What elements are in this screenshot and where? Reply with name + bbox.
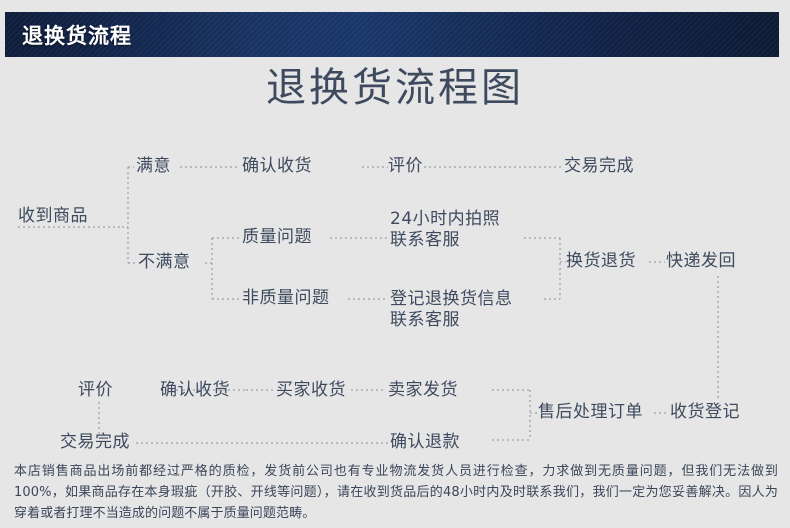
flow-node-deal-done-top: 交易完成 — [564, 156, 634, 177]
flow-node-confirm-refund: 确认退款 — [390, 432, 460, 453]
flow-node-review-top: 评价 — [388, 156, 423, 177]
flow-node-quality-issue: 质量问题 — [242, 227, 312, 248]
flow-node-express-send-back: 快递发回 — [666, 251, 736, 272]
footer-note: 本店销售商品出场前都经过严格的质检，发货前公司也有专业物流发货人员进行检查，力求… — [14, 461, 778, 524]
flow-node-register-info: 登记退换货信息 联系客服 — [390, 289, 513, 331]
flow-node-non-quality-issue: 非质量问题 — [242, 288, 330, 309]
flow-node-exchange-return: 换货退货 — [566, 251, 636, 272]
flow-node-unsatisfied: 不满意 — [138, 252, 191, 273]
flow-node-deal-done-bottom: 交易完成 — [60, 432, 130, 453]
flow-node-buyer-receive: 买家收货 — [276, 380, 346, 401]
flow-node-confirm-receipt-bottom: 确认收货 — [160, 380, 230, 401]
flow-node-seller-ship: 卖家发货 — [388, 380, 458, 401]
flow-node-review-bottom: 评价 — [78, 380, 113, 401]
flow-node-confirm-receipt-top: 确认收货 — [242, 156, 312, 177]
flow-node-receipt-register: 收货登记 — [670, 402, 740, 423]
flow-node-received-goods: 收到商品 — [18, 206, 88, 227]
flow-node-satisfied: 满意 — [136, 156, 171, 177]
flow-node-photo-24h-line2: 联系客服 — [390, 230, 500, 251]
flow-node-register-info-line1: 登记退换货信息 — [390, 289, 513, 310]
flowchart-nodes: 收到商品 满意 确认收货 评价 交易完成 不满意 质量问题 非质量问题 24小时… — [0, 0, 790, 528]
flow-node-aftersales-order: 售后处理订单 — [538, 402, 643, 423]
flow-node-photo-24h: 24小时内拍照 联系客服 — [390, 209, 500, 251]
flow-node-register-info-line2: 联系客服 — [390, 310, 513, 331]
flow-node-photo-24h-line1: 24小时内拍照 — [390, 209, 500, 230]
